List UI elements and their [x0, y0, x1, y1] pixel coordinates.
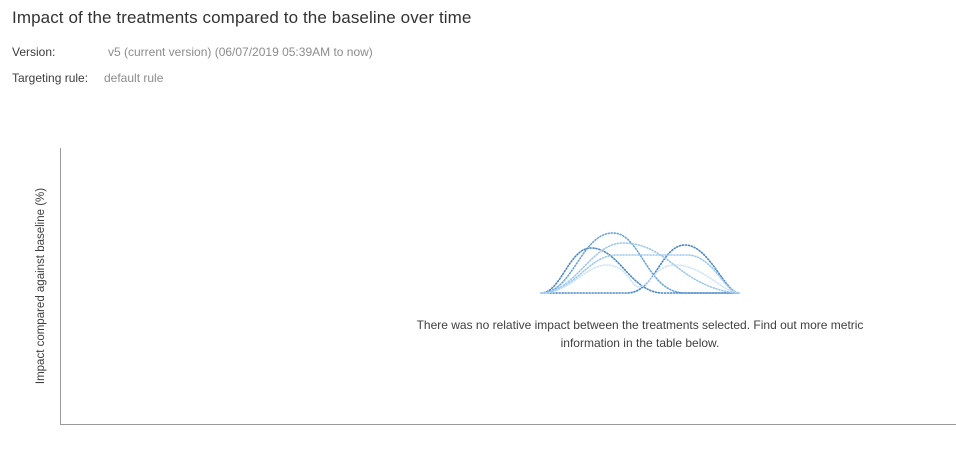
- empty-state-message: There was no relative impact between the…: [410, 316, 870, 352]
- x-axis-line: [60, 424, 956, 425]
- overlapping-bell-curves-illustration: [535, 215, 745, 300]
- chart-container: Impact compared against baseline (%) The…: [0, 0, 956, 457]
- y-axis-label: Impact compared against baseline (%): [35, 141, 47, 431]
- empty-state: There was no relative impact between the…: [330, 215, 950, 352]
- y-axis-line: [60, 148, 61, 425]
